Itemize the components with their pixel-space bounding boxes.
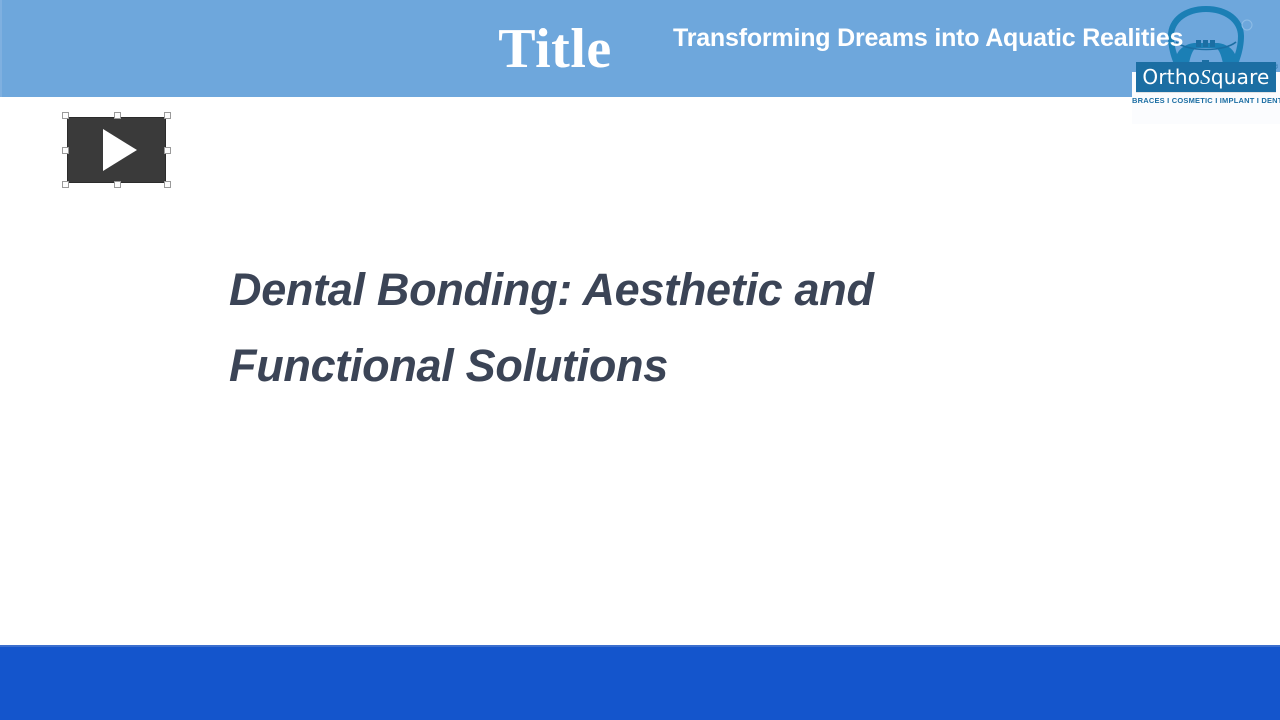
footer-tagline[interactable]: Transforming Dreams into Aquatic Realiti… — [673, 24, 1183, 53]
play-icon[interactable] — [103, 129, 137, 171]
resize-handle-s[interactable] — [114, 181, 121, 188]
heading-line-1: Dental Bonding: Aesthetic and — [229, 252, 1019, 328]
resize-handle-e[interactable] — [164, 147, 171, 154]
registered-trademark-icon: ® — [1273, 64, 1278, 71]
logo-wordmark-box: OrthoSquare — [1136, 62, 1276, 92]
presentation-slide: Title OrthoSquare ® BRACES I COSMETIC I … — [0, 0, 1280, 720]
heading-line-2: Functional Solutions — [229, 328, 1019, 404]
resize-handle-nw[interactable] — [62, 112, 69, 119]
logo-wordmark-text: OrthoSquare — [1142, 65, 1269, 90]
video-frame[interactable] — [67, 117, 166, 183]
logo-tagline: BRACES I COSMETIC I IMPLANT I DENTAL CAR… — [1132, 96, 1280, 105]
resize-handle-se[interactable] — [164, 181, 171, 188]
footer-top-edge — [0, 645, 1280, 647]
resize-handle-w[interactable] — [62, 147, 69, 154]
resize-handle-n[interactable] — [114, 112, 121, 119]
orthosquare-logo[interactable]: OrthoSquare ® BRACES I COSMETIC I IMPLAN… — [1132, 0, 1280, 124]
video-placeholder[interactable] — [67, 117, 166, 183]
resize-handle-ne[interactable] — [164, 112, 171, 119]
slide-footer-band — [0, 645, 1280, 720]
resize-handle-sw[interactable] — [62, 181, 69, 188]
slide-body-heading[interactable]: Dental Bonding: Aesthetic and Functional… — [229, 252, 1019, 404]
